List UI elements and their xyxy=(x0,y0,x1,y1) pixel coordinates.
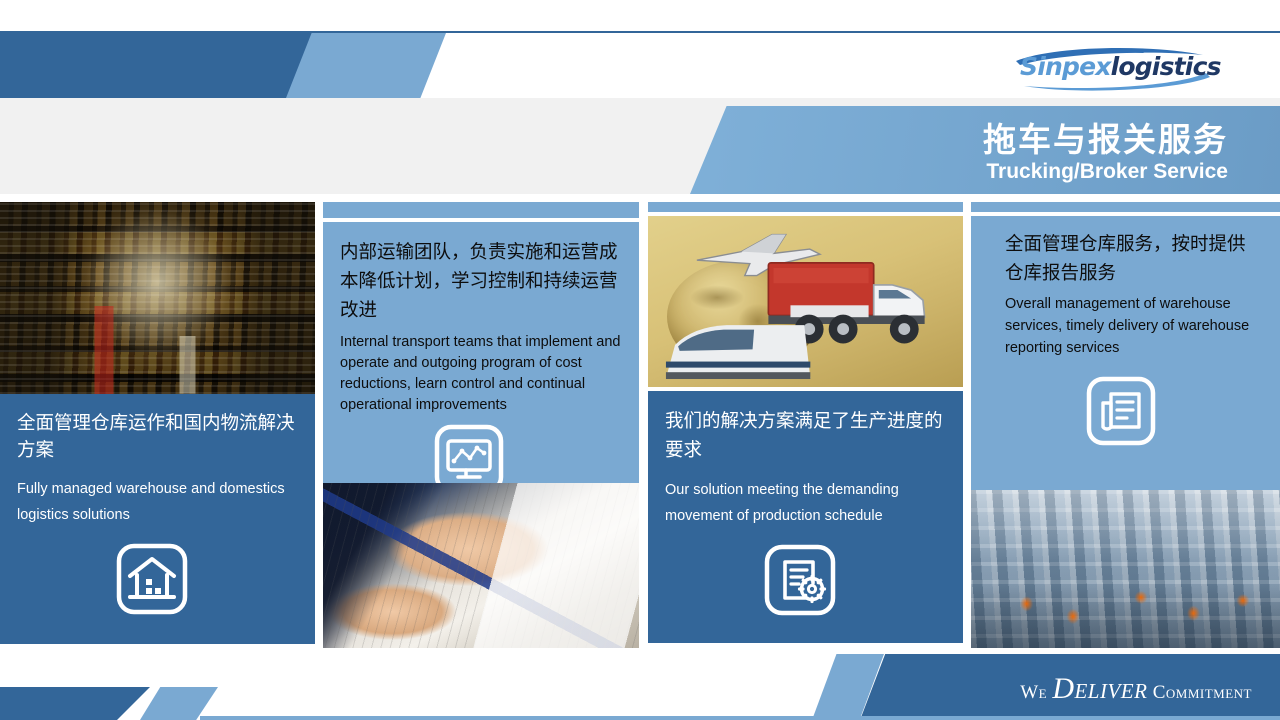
card1-panel: 全面管理仓库运作和国内物流解决方案 Fully managed warehous… xyxy=(0,394,315,644)
page-title-cn: 拖车与报关服务 xyxy=(983,113,1228,161)
card3-topbar xyxy=(648,202,963,212)
card-warehouse-operations[interactable]: 全面管理仓库运作和国内物流解决方案 Fully managed warehous… xyxy=(0,202,315,648)
card2-panel: 内部运输团队，负责实施和运营成本降低计划，学习控制和持续运营改进 Interna… xyxy=(323,222,639,483)
card3-body-en: Our solution meeting the demanding movem… xyxy=(665,477,946,529)
card2-body-en: Internal transport teams that implement … xyxy=(340,332,622,416)
card2-topbar xyxy=(323,202,639,218)
sinpex-logistics-logo[interactable]: Sinpexlogistics xyxy=(998,44,1228,96)
card-internal-transport[interactable]: 内部运输团队，负责实施和运营成本降低计划，学习控制和持续运营改进 Interna… xyxy=(323,202,639,648)
card1-body-en: Fully managed warehouse and domestics lo… xyxy=(17,476,298,528)
header-dark-shape xyxy=(0,33,330,98)
card4-topbar xyxy=(971,202,1280,212)
tagline-emphasis: Deliver xyxy=(1052,672,1147,705)
document-gear-icon[interactable] xyxy=(763,543,963,617)
footer-tagline: We Deliver Commitment xyxy=(1020,672,1252,706)
slide-root: Sinpexlogistics 拖车与报关服务 Trucking/Broker … xyxy=(0,0,1280,720)
tagline-post: Commitment xyxy=(1147,682,1252,703)
card1-text-block: 全面管理仓库运作和国内物流解决方案 Fully managed warehous… xyxy=(0,394,315,528)
card4-title-cn: 全面管理仓库服务，按时提供仓库报告服务 xyxy=(1005,230,1263,288)
title-strip: 拖车与报关服务 Trucking/Broker Service xyxy=(0,98,1280,194)
card1-title-cn: 全面管理仓库运作和国内物流解决方案 xyxy=(17,410,298,464)
multimodal-transport-photo xyxy=(648,216,963,387)
logo-wordmark: Sinpexlogistics xyxy=(1020,52,1221,81)
logo-text-sinpex: Sinpex xyxy=(1020,52,1111,81)
warehouse-aisle-photo xyxy=(0,202,315,394)
card-grid: 全面管理仓库运作和国内物流解决方案 Fully managed warehous… xyxy=(0,202,1280,648)
contract-signing-photo xyxy=(323,483,639,648)
card4-body-en: Overall management of warehouse services… xyxy=(1005,293,1263,359)
train-graphic xyxy=(657,319,821,387)
card4-text-block: 全面管理仓库服务，按时提供仓库报告服务 Overall management o… xyxy=(971,216,1280,359)
card3-text-block: 我们的解决方案满足了生产进度的要求 Our solution meeting t… xyxy=(648,391,963,529)
tagline-pre: We xyxy=(1020,682,1052,703)
factory-interior-photo xyxy=(971,490,1280,648)
footer-bottomleft-dark xyxy=(0,687,150,720)
footer: We Deliver Commitment xyxy=(0,648,1280,720)
header-light-shape xyxy=(286,33,446,98)
card3-gap-bottom xyxy=(648,643,963,647)
page-title-en: Trucking/Broker Service xyxy=(986,160,1228,184)
card3-title-cn: 我们的解决方案满足了生产进度的要求 xyxy=(665,407,946,465)
card2-text-block: 内部运输团队，负责实施和运营成本降低计划，学习控制和持续运营改进 Interna… xyxy=(323,222,639,416)
card3-panel: 我们的解决方案满足了生产进度的要求 Our solution meeting t… xyxy=(648,391,963,643)
card4-panel: 全面管理仓库服务，按时提供仓库报告服务 Overall management o… xyxy=(971,216,1280,490)
logo-text-logistics: logistics xyxy=(1111,52,1221,81)
newspaper-report-icon[interactable] xyxy=(1085,375,1280,447)
warehouse-house-icon[interactable] xyxy=(115,542,315,616)
footer-baseline-rule xyxy=(200,716,1280,720)
card-warehouse-reporting[interactable]: 全面管理仓库服务，按时提供仓库报告服务 Overall management o… xyxy=(971,202,1280,648)
card-production-schedule[interactable]: 我们的解决方案满足了生产进度的要求 Our solution meeting t… xyxy=(648,202,963,648)
card2-title-cn: 内部运输团队，负责实施和运营成本降低计划，学习控制和持续运营改进 xyxy=(340,238,622,325)
